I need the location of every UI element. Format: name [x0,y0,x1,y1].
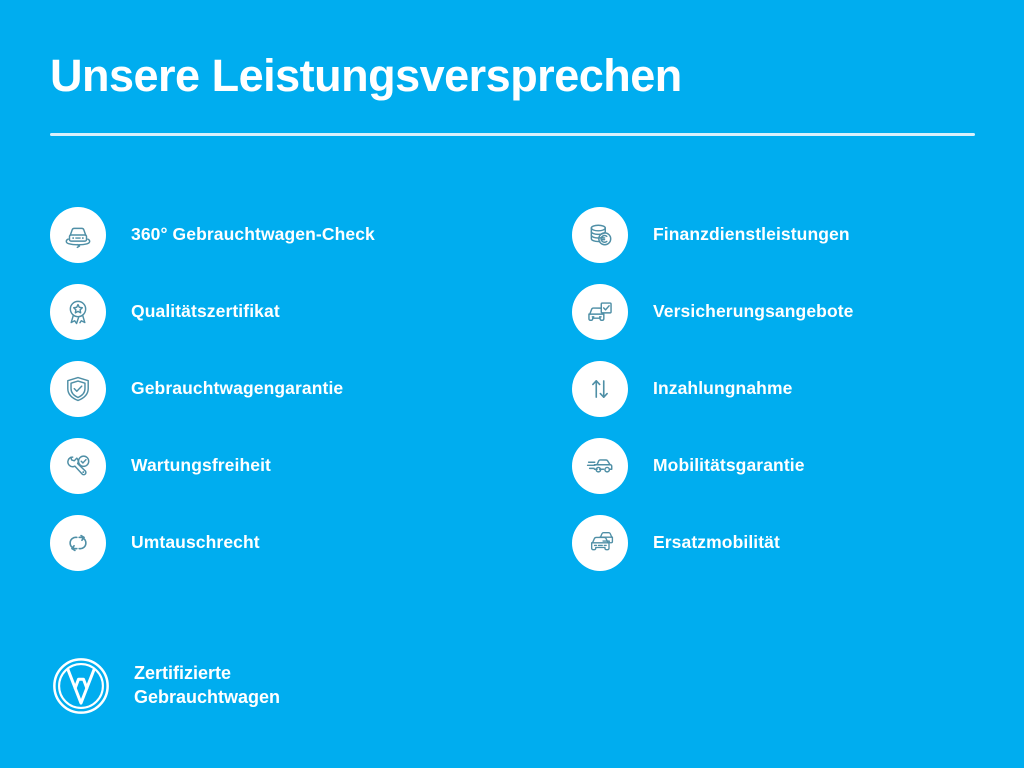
benefit-item-umtauschrecht[interactable]: Umtauschrecht [50,504,520,581]
two-cars-icon [572,515,628,571]
promise-slide: Unsere Leistungsversprechen 3 [0,0,1024,768]
car-360-check-icon [50,207,106,263]
benefit-label: Qualitätszertifikat [131,301,280,322]
brand-text: Zertifizierte Gebrauchtwagen [134,662,280,710]
benefit-item-mobilitaetsgarantie[interactable]: Mobilitätsgarantie [572,427,992,504]
wrench-check-icon [50,438,106,494]
benefits-column-left: 360° Gebrauchtwagen-Check Qualitätszerti… [50,196,520,581]
benefits-column-right: Finanzdienstleistungen Versicherungsange… [572,196,992,581]
benefit-label: 360° Gebrauchtwagen-Check [131,224,375,245]
benefit-item-ersatzmobilitaet[interactable]: Ersatzmobilität [572,504,992,581]
car-document-check-icon [572,284,628,340]
up-down-arrows-icon [572,361,628,417]
benefit-item-qualitaetszertifikat[interactable]: Qualitätszertifikat [50,273,520,350]
car-motion-icon [572,438,628,494]
header: Unsere Leistungsversprechen [50,52,976,99]
benefit-item-gebrauchtwagen-check[interactable]: 360° Gebrauchtwagen-Check [50,196,520,273]
benefit-item-inzahlungnahme[interactable]: Inzahlungnahme [572,350,992,427]
benefit-label: Mobilitätsgarantie [653,455,805,476]
award-rosette-icon [50,284,106,340]
benefit-label: Umtauschrecht [131,532,260,553]
page-title: Unsere Leistungsversprechen [50,52,976,99]
benefit-item-wartungsfreiheit[interactable]: Wartungsfreiheit [50,427,520,504]
exchange-arrows-icon [50,515,106,571]
volkswagen-logo-icon [50,655,112,717]
benefit-label: Ersatzmobilität [653,532,780,553]
benefit-label: Finanzdienstleistungen [653,224,850,245]
benefit-item-versicherungsangebote[interactable]: Versicherungsangebote [572,273,992,350]
benefit-label: Gebrauchtwagengarantie [131,378,343,399]
euro-coins-icon [572,207,628,263]
brand-text-line1: Zertifizierte [134,662,280,686]
benefit-label: Inzahlungnahme [653,378,792,399]
benefits-grid: 360° Gebrauchtwagen-Check Qualitätszerti… [0,196,1024,581]
benefit-label: Wartungsfreiheit [131,455,271,476]
shield-check-icon [50,361,106,417]
benefit-label: Versicherungsangebote [653,301,854,322]
benefit-item-gebrauchtwagengarantie[interactable]: Gebrauchtwagengarantie [50,350,520,427]
title-divider [50,133,975,136]
benefit-item-finanzdienstleistungen[interactable]: Finanzdienstleistungen [572,196,992,273]
brand-lockup: Zertifizierte Gebrauchtwagen [50,655,280,717]
brand-text-line2: Gebrauchtwagen [134,686,280,710]
